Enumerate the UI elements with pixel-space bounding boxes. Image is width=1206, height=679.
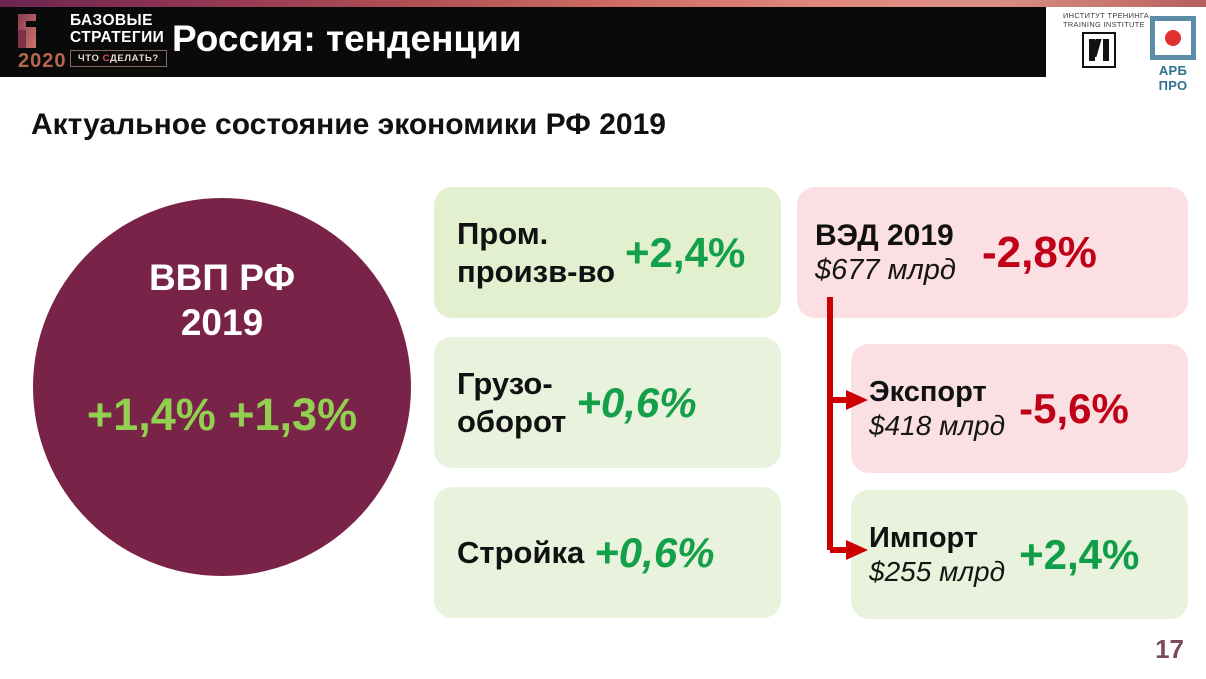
top-gradient-bar (0, 0, 1206, 7)
slide: БАЗОВЫЕ СТРАТЕГИИ 2020 ЧТО СДЕЛАТЬ? Росс… (0, 0, 1206, 679)
page-number: 17 (1155, 634, 1184, 665)
trade-card-value: -2,8% (956, 228, 1097, 278)
brand-logo-words: БАЗОВЫЕ СТРАТЕГИИ (70, 12, 164, 46)
brand-logo-line2: СТРАТЕГИИ (70, 29, 164, 46)
indicator-value: +0,6% (566, 379, 696, 427)
gdp-circle-values: +1,4% +1,3% (87, 387, 357, 443)
arb-pro-label: АРБ ПРО (1146, 63, 1200, 93)
tagline-part-1: ЧТО (78, 53, 103, 64)
tagline-part-2: С (103, 53, 110, 64)
arb-pro-logo: АРБ ПРО (1146, 16, 1200, 93)
training-institute-logo: ИНСТИТУТ ТРЕНИНГА TRAINING INSTITUTE (1063, 11, 1135, 68)
brand-logo-tagline: ЧТО СДЕЛАТЬ? (70, 50, 167, 67)
brand-logo-line1: БАЗОВЫЕ (70, 12, 164, 29)
page-title: Актуальное состояние экономики РФ 2019 (31, 108, 666, 142)
trade-card-export: Экспорт $418 млрд -5,6% (851, 344, 1188, 473)
indicator-label: Пром. произв-во (434, 215, 615, 291)
gdp-circle: ВВП РФ 2019 +1,4% +1,3% (33, 198, 411, 576)
trade-card-amount: $255 млрд (869, 555, 1005, 589)
training-institute-caption-ru: ИНСТИТУТ ТРЕНИНГА (1063, 11, 1135, 20)
trade-card-title: Экспорт (869, 375, 1005, 409)
indicator-card-industrial-production: Пром. произв-во +2,4% (434, 187, 781, 318)
arb-pro-square-icon (1150, 16, 1196, 60)
slide-title: Россия: тенденции (172, 18, 522, 60)
indicator-value: +0,6% (584, 529, 714, 577)
brand-logo-year: 2020 (18, 50, 67, 73)
indicator-label: Грузо- оборот (434, 365, 566, 441)
arb-pro-dot-icon (1165, 30, 1181, 46)
indicator-value: +2,4% (615, 229, 745, 277)
indicator-card-freight-turnover: Грузо- оборот +0,6% (434, 337, 781, 468)
trade-card-value: -5,6% (1005, 385, 1129, 433)
trade-card-value: +2,4% (1005, 531, 1139, 579)
trade-card-import: Импорт $255 млрд +2,4% (851, 490, 1188, 619)
indicator-card-construction: Стройка +0,6% (434, 487, 781, 618)
trade-card-title: ВЭД 2019 (815, 219, 956, 253)
bs-logo-mark-icon (16, 12, 62, 50)
indicator-label: Стройка (434, 534, 584, 572)
tagline-part-3: ДЕЛАТЬ? (110, 53, 159, 64)
training-institute-monogram-icon (1082, 32, 1116, 68)
training-institute-caption-en: TRAINING INSTITUTE (1063, 20, 1135, 29)
gdp-circle-title: ВВП РФ 2019 (149, 255, 295, 345)
trade-flow-connector-arrows (790, 280, 880, 570)
brand-logo-basic-strategies: БАЗОВЫЕ СТРАТЕГИИ 2020 ЧТО СДЕЛАТЬ? (16, 12, 166, 72)
trade-card-title: Импорт (869, 521, 1005, 555)
trade-card-amount: $418 млрд (869, 409, 1005, 443)
